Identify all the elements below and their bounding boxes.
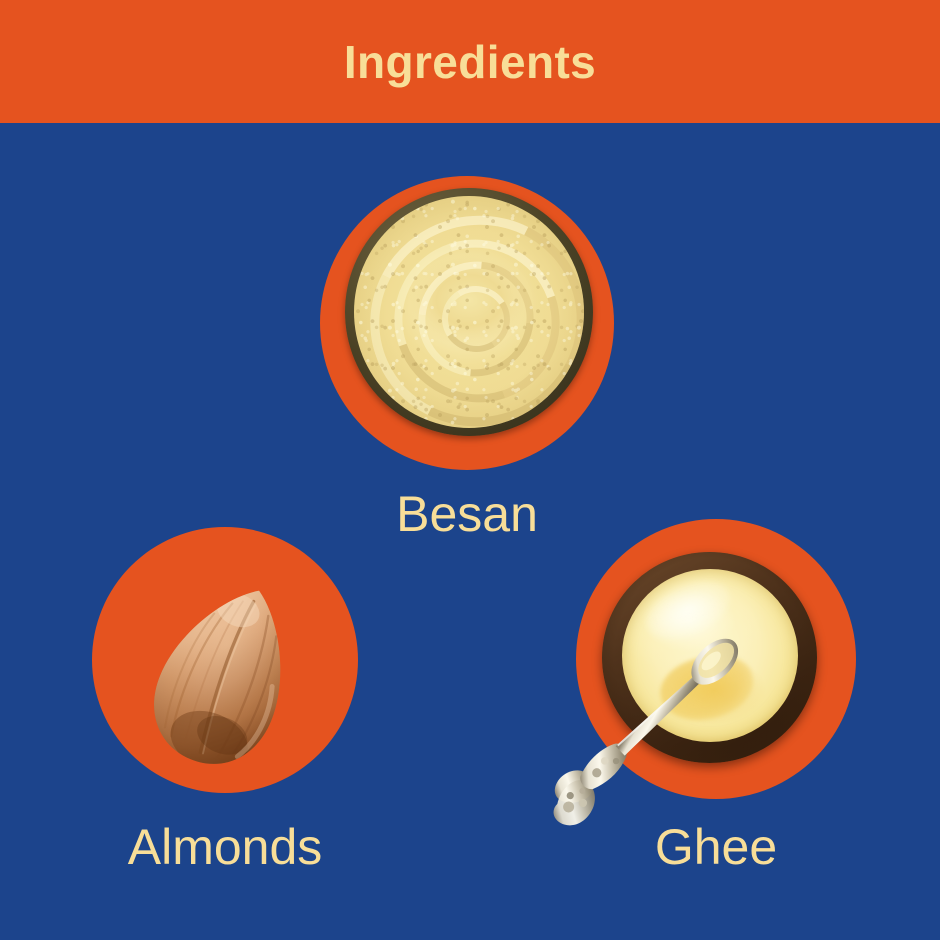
spoon-icon	[524, 622, 784, 852]
besan-grain-texture	[354, 196, 584, 428]
besan-bowl-image	[345, 188, 593, 436]
page-title: Ingredients	[344, 39, 596, 85]
ingredient-label-ghee: Ghee	[576, 822, 856, 872]
ingredient-label-almonds: Almonds	[92, 822, 358, 872]
besan-powder	[354, 196, 584, 428]
ingredients-card: Ingredients Besan	[0, 0, 940, 940]
ingredient-label-besan: Besan	[320, 489, 614, 539]
header-band: Ingredients	[0, 0, 940, 123]
